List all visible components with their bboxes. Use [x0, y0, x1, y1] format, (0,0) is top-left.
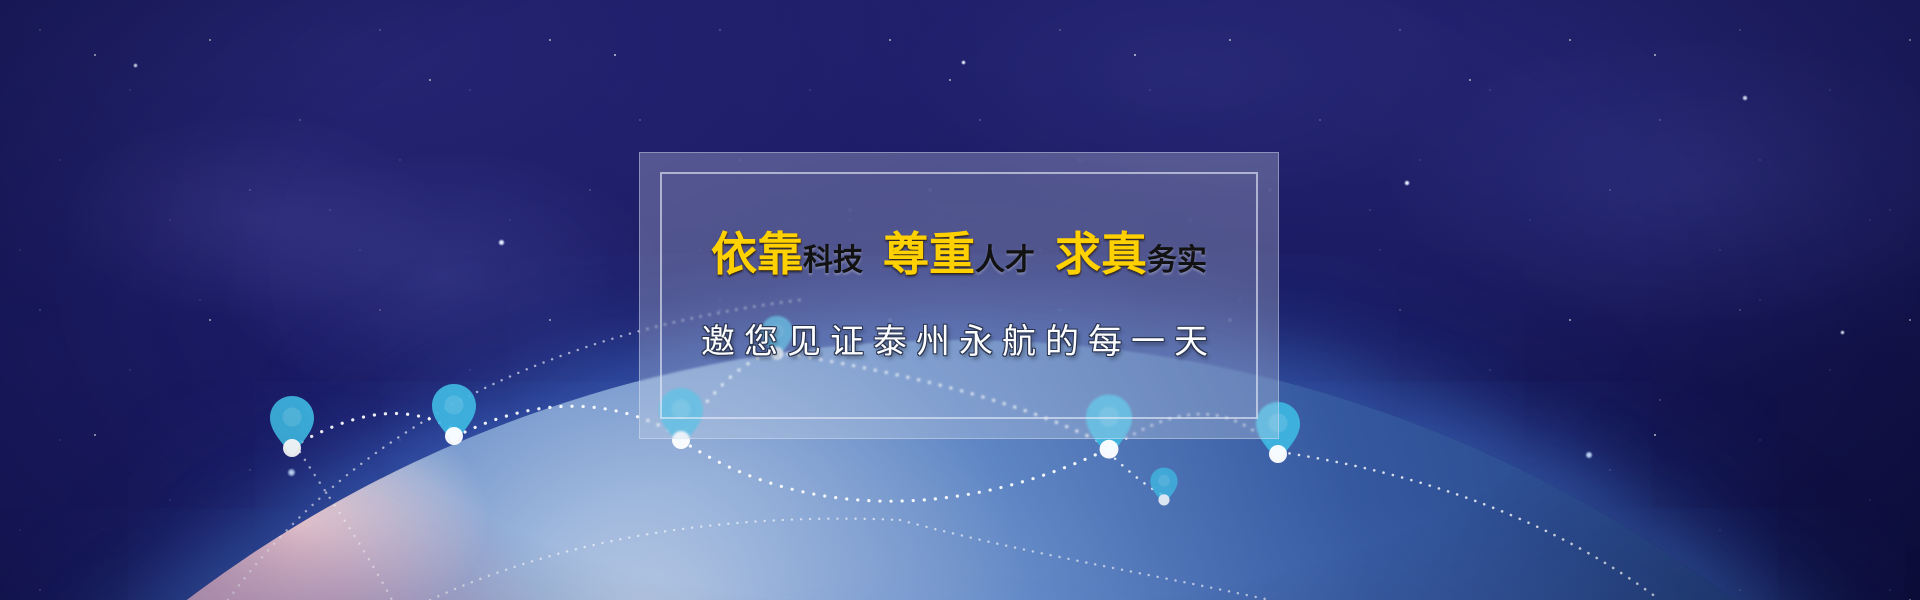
banner-root: .rt{fill:none;stroke:#ffffff;stroke-line…	[0, 0, 1920, 600]
slogan-seg-keji: 科技	[803, 244, 863, 277]
slogan-panel: 依靠科技尊重人才求真务实 邀您见证泰州永航的每一天	[639, 152, 1279, 439]
slogan-seg-rencai: 人才	[975, 244, 1035, 277]
slogan-seg-qiuzhen: 求真	[1055, 228, 1147, 280]
slogan-text-block: 依靠科技尊重人才求真务实 邀您见证泰州永航的每一天	[640, 231, 1278, 363]
slogan-line-1: 依靠科技尊重人才求真务实	[640, 231, 1278, 278]
slogan-seg-zunzhong: 尊重	[883, 228, 975, 280]
slogan-seg-yikao: 依靠	[711, 228, 803, 280]
slogan-line-2: 邀您见证泰州永航的每一天	[640, 314, 1278, 363]
slogan-seg-wushi: 务实	[1147, 244, 1207, 277]
